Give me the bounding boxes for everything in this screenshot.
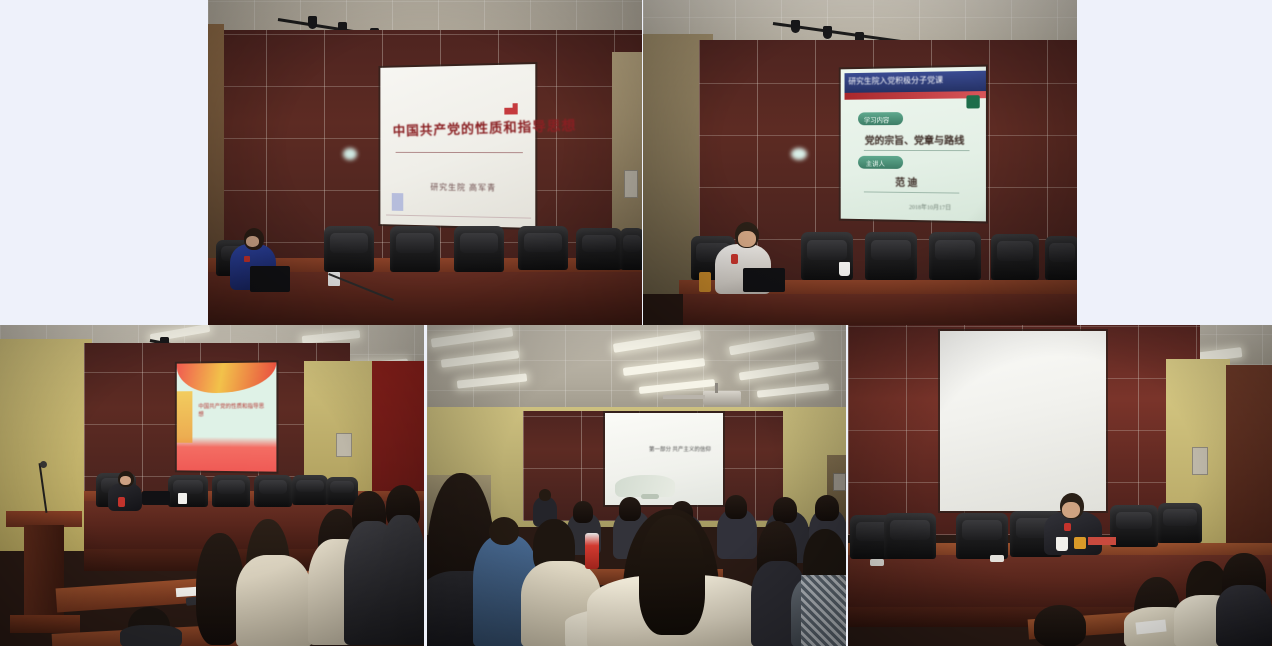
projection-screen: 中国共产党的性质和指导思想 研究生院 高军青 [380,64,535,228]
chair [390,226,440,272]
microphone-icon [870,559,884,566]
microphone-icon [990,555,1004,562]
chair [884,513,936,559]
chair [620,228,642,270]
chair [454,226,504,272]
cup-icon [1056,537,1068,551]
projector-icon [703,391,741,405]
cup-icon [839,262,850,276]
cup-icon [178,493,187,504]
slide-label-2: 主讲人 [866,158,885,168]
chair [1110,505,1158,547]
projection-screen: 研究生院入党积极分子党课 学习内容 党的宗旨、党章与路线 主讲人 范 迪 201… [841,67,986,222]
chair [865,232,917,280]
bottle-icon [699,272,711,292]
chair [518,226,568,270]
photo-collage-page: 中国共产党的性质和指导思想 研究生院 高军青 [0,0,1272,646]
projection-screen: 第一部分 共产主义的信仰 [605,413,723,505]
photo-bottom-right[interactable]: A man in a dark suit seated at the centr… [848,325,1272,646]
chair [326,477,358,505]
slide-footer: 2018年10月17日 [909,202,951,212]
chair [929,232,981,280]
photo-bottom-left[interactable]: 中国共产党的性质和指导思想 [0,325,424,646]
slide-line-1: 党的宗旨、党章与路线 [865,132,965,147]
chair [1045,236,1077,280]
microphone-icon [731,254,738,264]
thermos-icon [585,533,599,569]
slide-title: 第一部分 共产主义的信仰 [649,445,711,453]
chair [324,226,374,272]
chair [956,513,1008,559]
spot-light-icon [791,20,800,33]
photo-top-left[interactable]: 中国共产党的性质和指导思想 研究生院 高军青 [208,0,642,325]
laptop-icon [743,268,785,292]
chair [991,234,1039,280]
chair [168,475,208,507]
spot-light-icon [823,26,832,39]
party-emblem-icon [504,103,517,114]
chair [254,475,292,507]
slide-banner-title: 研究生院入党积极分子党课 [848,74,943,86]
chair [212,475,250,507]
photo-top-right[interactable]: 研究生院入党积极分子党课 学习内容 党的宗旨、党章与路线 主讲人 范 迪 201… [643,0,1077,325]
slide-label-1: 学习内容 [864,114,889,124]
logo-icon [966,95,979,108]
photo-bottom-middle[interactable]: 第一部分 共产主义的信仰 [427,325,846,646]
projection-screen: 中国共产党的性质和指导思想 [177,362,277,471]
chair [1158,503,1202,543]
laptop-icon [250,266,290,292]
projection-screen [940,331,1106,511]
chair [576,228,622,270]
laptop-icon [142,491,170,505]
slide-subtitle: 研究生院 高军青 [430,182,496,194]
slide-title: 中国共产党的性质和指导思想 [198,403,264,419]
slide-line-2: 范 迪 [895,174,917,189]
spot-light-icon [308,16,317,29]
chair [292,475,328,505]
